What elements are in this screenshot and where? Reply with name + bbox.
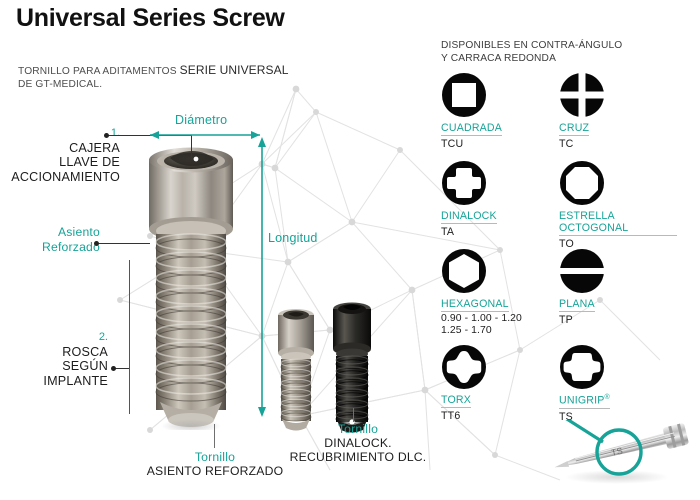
intro-line1-a: TORNILLO PARA ADITAMENTOS (18, 66, 177, 77)
drive-unigrip-name-text: UNIGRIP (559, 395, 605, 407)
callout-1-line-2: LLAVE DE (8, 155, 120, 170)
callout-3-dot (111, 366, 116, 371)
caption-2-ink-2: RECUBRIMIENTO DLC. (278, 450, 438, 464)
diameter-label: Diámetro (175, 113, 227, 127)
drive-plana-name: PLANA (559, 298, 595, 312)
length-arrow (255, 132, 269, 422)
callout-2-dot (94, 241, 99, 246)
intro-line2: DE GT-MEDICAL. (18, 78, 289, 91)
square-drive-icon (441, 72, 487, 118)
octagon-drive-icon (559, 160, 605, 206)
drive-torx-name: TORX (441, 394, 471, 408)
caption-1-ink: ASIENTO REFORZADO (120, 464, 310, 478)
drive-unigrip-name: UNIGRIP® (559, 394, 610, 409)
drive-cuadrada-name: CUADRADA (441, 122, 502, 136)
caption-1-leader (214, 424, 215, 448)
caption-2-leader (353, 408, 354, 422)
drive-torx[interactable]: TORX TT6 (441, 344, 559, 422)
drive-cruz-name: CRUZ (559, 122, 589, 136)
hexagon-drive-icon (441, 248, 487, 294)
drive-cruz[interactable]: CRUZ TC (559, 72, 677, 150)
unigrip-drive-icon (559, 344, 605, 390)
drive-dinalock-name: DINALOCK (441, 210, 497, 224)
drive-dinalock[interactable]: DINALOCK TA (441, 160, 559, 238)
drive-hexagonal[interactable]: HEXAGONAL 0.90 - 1.00 - 1.20 1.25 - 1.70 (441, 248, 559, 337)
trademark-symbol: ® (605, 394, 610, 401)
callout-3-line-2: SEGÚN (8, 359, 108, 374)
drive-estrella-name: ESTRELLA OCTOGONAL (559, 210, 677, 236)
drive-dinalock-code: TA (441, 226, 559, 238)
infographic-canvas: Universal Series Screw TORNILLO PARA ADI… (0, 0, 700, 500)
intro-text: TORNILLO PARA ADITAMENTOS SERIE UNIVERSA… (18, 64, 289, 91)
caption-2-teal: Tornillo (278, 422, 438, 436)
hexagonal-size-line-1: 0.90 - 1.00 - 1.20 (441, 313, 559, 325)
page-title: Universal Series Screw (16, 4, 285, 33)
callout-1-line-3: ACCIONAMIENTO (8, 170, 120, 185)
drive-cuadrada-code: TCU (441, 138, 559, 150)
intro-series-name: SERIE UNIVERSAL (180, 63, 289, 77)
hexagonal-size-line-2: 1.25 - 1.70 (441, 325, 559, 337)
dinalock-drive-icon (441, 160, 487, 206)
small-silver-screw-illustration (270, 305, 322, 435)
drive-unigrip[interactable]: UNIGRIP® TS (559, 344, 677, 423)
diameter-arrow (140, 128, 270, 142)
callout-number-1: 1. (8, 126, 120, 141)
main-screw-illustration (130, 130, 272, 430)
availability-note: DISPONIBLES EN CONTRA-ÁNGULO Y CARRACA R… (441, 40, 622, 65)
drive-cuadrada[interactable]: CUADRADA TCU (441, 72, 559, 150)
drive-hexagonal-sizes: 0.90 - 1.00 - 1.20 1.25 - 1.70 (441, 313, 559, 337)
driver-tool-illustration: TS (545, 420, 700, 492)
callout-2-line-1: Asiento (8, 225, 100, 240)
callout-rosca: 2. ROSCA SEGÚN IMPLANTE (8, 330, 108, 388)
availability-line-1: DISPONIBLES EN CONTRA-ÁNGULO (441, 40, 622, 53)
caption-dinalock-dlc: Tornillo DINALOCK. RECUBRIMIENTO DLC. (278, 422, 438, 464)
torx-drive-icon (441, 344, 487, 390)
callout-1-dot (104, 133, 109, 138)
slot-drive-icon (559, 248, 605, 294)
drive-plana[interactable]: PLANA TP (559, 248, 677, 326)
callout-3-bracket (129, 260, 130, 414)
drive-plana-code: TP (559, 314, 677, 326)
drive-cruz-code: TC (559, 138, 677, 150)
small-black-dlc-screw-illustration (325, 298, 379, 438)
caption-2-ink-1: DINALOCK. (278, 436, 438, 450)
callout-2-line-2: Reforzado (8, 240, 100, 255)
cross-drive-icon (559, 72, 605, 118)
callout-asiento: Asiento Reforzado (8, 225, 100, 254)
length-label: Longitud (268, 231, 318, 245)
driver-engraving: TS (610, 446, 624, 458)
drive-torx-code: TT6 (441, 410, 559, 422)
availability-line-2: Y CARRACA REDONDA (441, 53, 622, 66)
callout-2-leader (98, 243, 150, 244)
callout-number-2: 2. (8, 330, 108, 345)
callout-3-line-1: ROSCA (8, 345, 108, 360)
callout-3-line-3: IMPLANTE (8, 374, 108, 389)
drive-estrella-octogonal[interactable]: ESTRELLA OCTOGONAL TO (559, 160, 677, 250)
drive-hexagonal-name: HEXAGONAL (441, 298, 509, 312)
callout-3-leader (115, 368, 129, 369)
callout-1-line-1: CAJERA (8, 141, 120, 156)
driver-callout-line (559, 420, 603, 442)
